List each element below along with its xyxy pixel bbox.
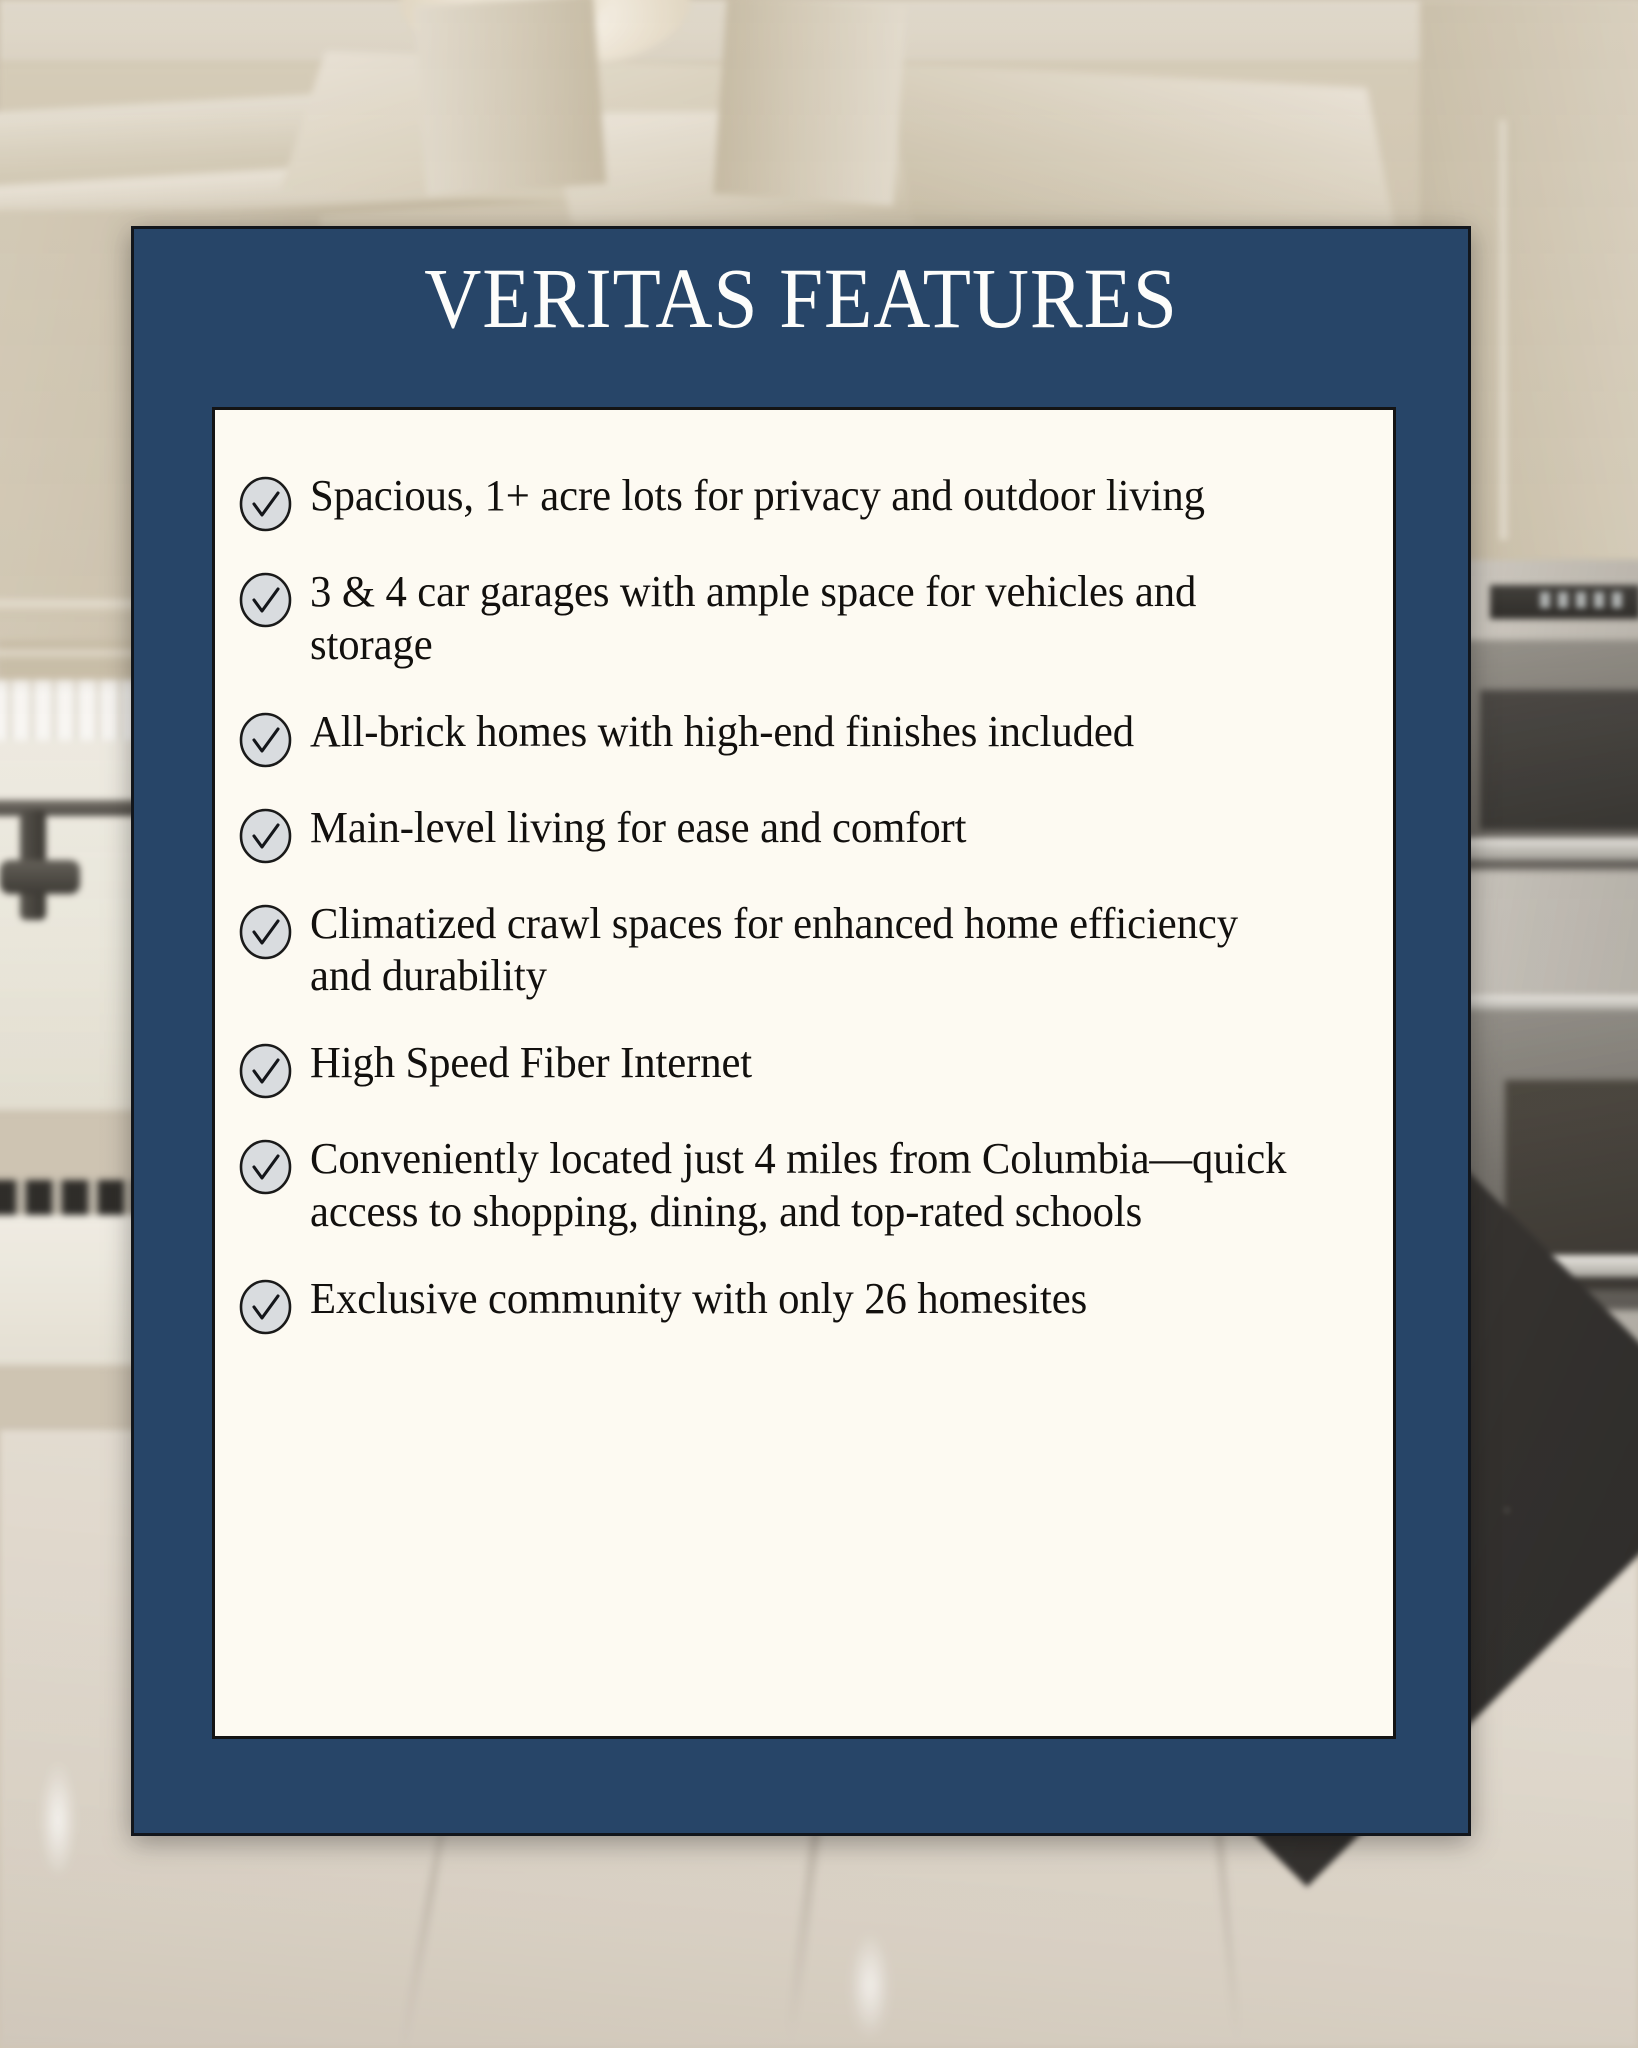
check-circle-icon [239, 808, 292, 864]
list-item: All-brick homes with high-end finishes i… [239, 706, 1337, 768]
poster-canvas: VERITAS FEATURES Spacious, 1+ acre lots … [0, 0, 1638, 2048]
feature-text: Climatized crawl spaces for enhanced hom… [310, 898, 1306, 1004]
check-circle-icon [239, 1043, 292, 1099]
feature-text: Conveniently located just 4 miles from C… [310, 1133, 1306, 1239]
list-item: Main-level living for ease and comfort [239, 802, 1337, 864]
feature-text: 3 & 4 car garages with ample space for v… [310, 566, 1306, 672]
features-panel: Spacious, 1+ acre lots for privacy and o… [212, 407, 1396, 1739]
feature-text: All-brick homes with high-end finishes i… [310, 706, 1134, 759]
check-circle-icon [239, 1279, 292, 1335]
check-circle-icon [239, 476, 292, 532]
list-item: High Speed Fiber Internet [239, 1037, 1337, 1099]
check-circle-icon [239, 1139, 292, 1195]
list-item: Conveniently located just 4 miles from C… [239, 1133, 1337, 1239]
list-item: Spacious, 1+ acre lots for privacy and o… [239, 470, 1337, 532]
features-list: Spacious, 1+ acre lots for privacy and o… [239, 470, 1337, 1335]
feature-text: High Speed Fiber Internet [310, 1037, 752, 1090]
check-circle-icon [239, 572, 292, 628]
list-item: Exclusive community with only 26 homesit… [239, 1273, 1337, 1335]
feature-text: Spacious, 1+ acre lots for privacy and o… [310, 470, 1205, 523]
check-circle-icon [239, 712, 292, 768]
feature-text: Exclusive community with only 26 homesit… [310, 1273, 1087, 1326]
check-circle-icon [239, 904, 292, 960]
page-title: VERITAS FEATURES [187, 229, 1414, 343]
list-item: 3 & 4 car garages with ample space for v… [239, 566, 1337, 672]
feature-text: Main-level living for ease and comfort [310, 802, 966, 855]
list-item: Climatized crawl spaces for enhanced hom… [239, 898, 1337, 1004]
features-card: VERITAS FEATURES Spacious, 1+ acre lots … [131, 226, 1471, 1836]
